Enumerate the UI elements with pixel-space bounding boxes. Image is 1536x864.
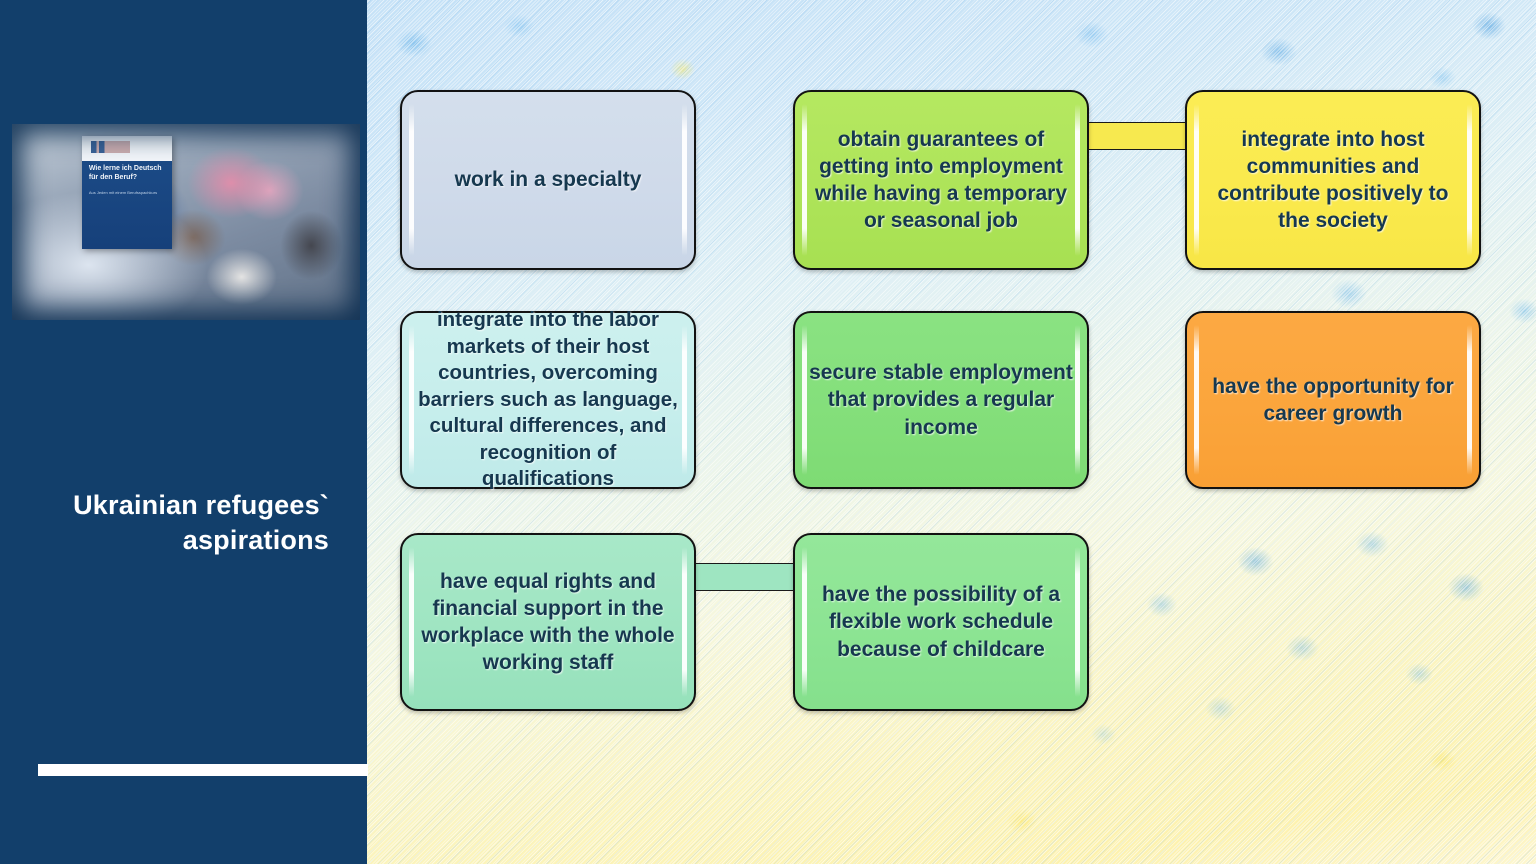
page-title: Ukrainian refugees` aspirations: [38, 488, 329, 558]
photo-image: Wie lerne ich Deutsch für den Beruf? Aus…: [12, 124, 360, 320]
node-work-in-a-specialty[interactable]: work in a specialty: [400, 90, 696, 270]
node-obtain-guarantees-employment[interactable]: obtain guarantees of getting into employ…: [793, 90, 1089, 270]
photo-banner-subtitle: Aus Jeden mit einem Berufsspachkurs: [89, 190, 165, 195]
job-fair-photo: Wie lerne ich Deutsch für den Beruf? Aus…: [12, 124, 360, 320]
node-secure-stable-employment[interactable]: secure stable employment that provides a…: [793, 311, 1089, 489]
node-label: integrate into the labor markets of thei…: [416, 307, 680, 492]
node-label: have the opportunity for career growth: [1201, 373, 1465, 427]
diagram-canvas: work in a specialty integrate into the l…: [367, 0, 1536, 864]
node-label: work in a specialty: [455, 166, 642, 193]
title-underline-rule: [38, 764, 368, 776]
node-integrate-host-communities[interactable]: integrate into host communities and cont…: [1185, 90, 1481, 270]
node-flexible-work-schedule[interactable]: have the possibility of a flexible work …: [793, 533, 1089, 711]
node-label: integrate into host communities and cont…: [1201, 126, 1465, 234]
photo-banner-logo: [91, 141, 131, 152]
node-label: obtain guarantees of getting into employ…: [809, 126, 1073, 234]
node-label: have equal rights and financial support …: [416, 568, 680, 676]
flow-diagram: work in a specialty integrate into the l…: [367, 0, 1536, 864]
photo-banner-title: Wie lerne ich Deutsch für den Beruf?: [89, 165, 165, 183]
node-integrate-labor-markets[interactable]: integrate into the labor markets of thei…: [400, 311, 696, 489]
photo-banner: Wie lerne ich Deutsch für den Beruf? Aus…: [82, 136, 172, 250]
node-career-growth-opportunity[interactable]: have the opportunity for career growth: [1185, 311, 1481, 489]
node-equal-rights-support[interactable]: have equal rights and financial support …: [400, 533, 696, 711]
left-sidebar-panel: Wie lerne ich Deutsch für den Beruf? Aus…: [0, 0, 367, 864]
node-label: secure stable employment that provides a…: [809, 359, 1073, 440]
slide-canvas: Wie lerne ich Deutsch für den Beruf? Aus…: [0, 0, 1536, 864]
node-label: have the possibility of a flexible work …: [809, 581, 1073, 662]
